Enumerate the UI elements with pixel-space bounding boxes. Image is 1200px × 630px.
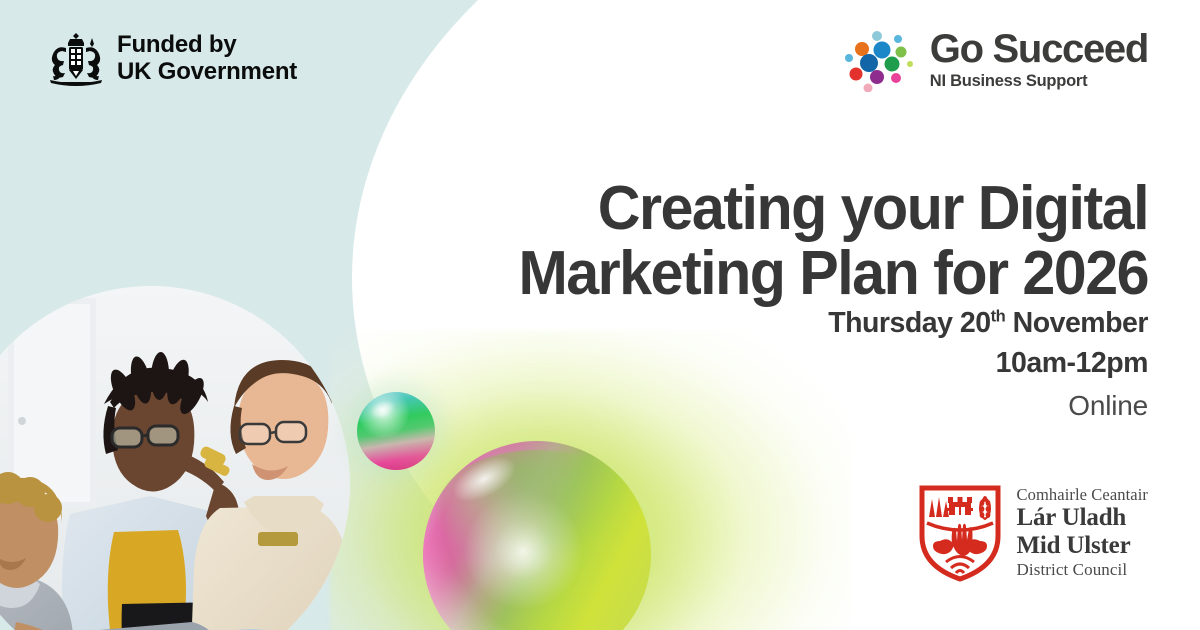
council-name-irish: Lár Uladh xyxy=(1017,505,1148,530)
mid-ulster-district-council-logo: Comhairle Ceantair Lár Uladh Mid Ulster … xyxy=(918,483,1148,582)
event-location: Online xyxy=(528,388,1148,423)
event-date: Thursday 20th November xyxy=(528,306,1148,342)
event-title-line1: Creating your Digital xyxy=(422,176,1148,241)
team-photo-illustration xyxy=(0,286,350,630)
council-name-english: Mid Ulster xyxy=(1017,533,1148,558)
go-succeed-logo: Go Succeed NI Business Support xyxy=(844,30,1148,92)
event-time: 10am-12pm xyxy=(528,346,1148,382)
mid-ulster-wordmark: Comhairle Ceantair Lár Uladh Mid Ulster … xyxy=(1017,487,1148,579)
event-details-block: Thursday 20th November 10am-12pm Online xyxy=(528,306,1148,423)
event-title-line2: Marketing Plan for 2026 xyxy=(422,241,1148,306)
iridescent-sphere-small xyxy=(357,392,435,470)
funded-by-line2: UK Government xyxy=(117,59,297,86)
go-succeed-subtitle: NI Business Support xyxy=(930,72,1148,92)
team-photo-circle xyxy=(0,286,350,630)
uk-royal-coat-of-arms-icon xyxy=(46,30,106,88)
funded-by-line1: Funded by xyxy=(117,32,297,59)
council-line-english-suffix: District Council xyxy=(1017,561,1148,578)
council-line-irish-prefix: Comhairle Ceantair xyxy=(1017,487,1148,504)
go-succeed-title: Go Succeed xyxy=(930,30,1148,68)
event-date-ordinal: th xyxy=(991,307,1006,326)
go-succeed-wordmark: Go Succeed NI Business Support xyxy=(930,30,1148,91)
event-promo-poster: Funded by UK Government Go Succeed NI Bu… xyxy=(0,0,1200,630)
event-title-block: Creating your Digital Marketing Plan for… xyxy=(388,176,1148,306)
event-date-suffix: November xyxy=(1005,307,1148,339)
event-date-prefix: Thursday 20 xyxy=(828,307,990,339)
funded-by-text: Funded by UK Government xyxy=(117,32,297,86)
mid-ulster-shield-crest-icon xyxy=(918,483,1002,582)
go-succeed-dot-cluster-icon xyxy=(844,30,918,92)
funded-by-uk-government-logo: Funded by UK Government xyxy=(46,30,297,88)
